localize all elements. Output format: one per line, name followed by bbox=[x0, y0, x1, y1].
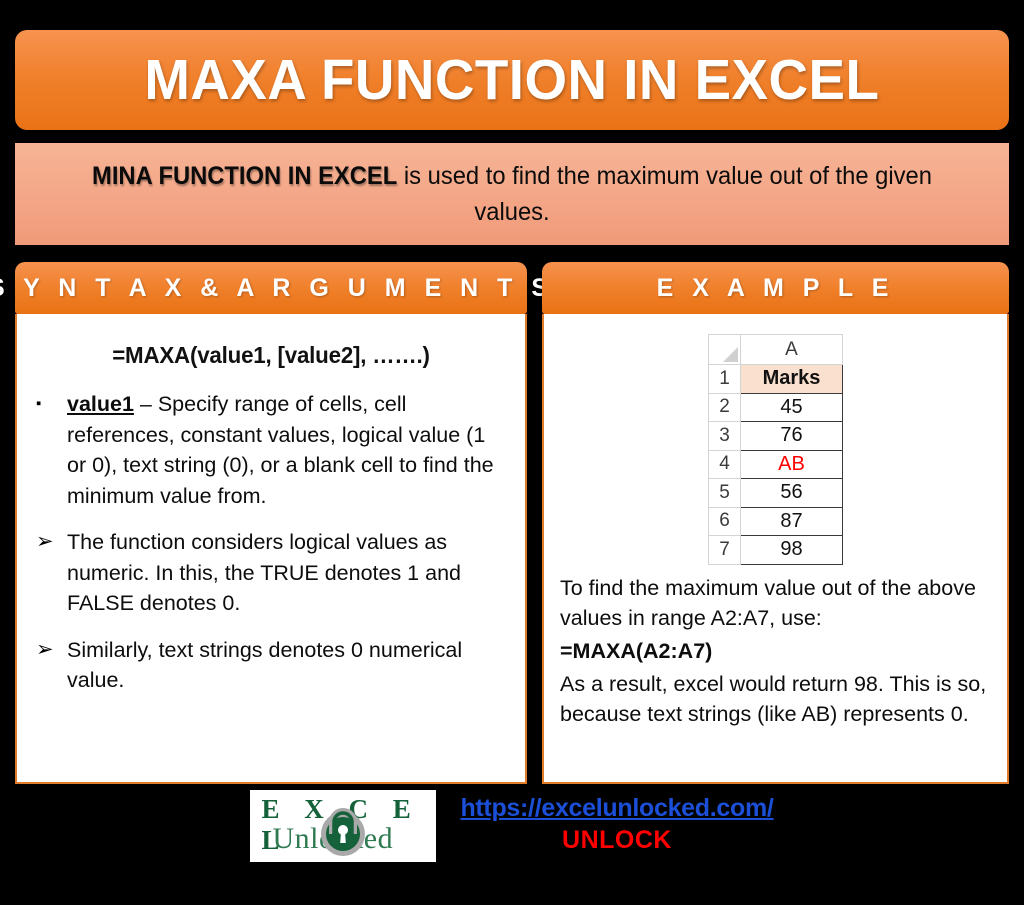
subtitle-band: MINA FUNCTION IN EXCEL is used to find t… bbox=[15, 143, 1009, 245]
spreadsheet-table: A 1 Marks 2 45 3 76 4 bbox=[708, 334, 843, 565]
table-row: 3 76 bbox=[709, 422, 843, 451]
arrow-bullet-icon: ➢ bbox=[33, 527, 67, 557]
row-header[interactable]: 3 bbox=[709, 422, 741, 451]
table-row: 2 45 bbox=[709, 393, 843, 422]
spreadsheet-wrapper: A 1 Marks 2 45 3 76 4 bbox=[560, 334, 991, 565]
site-url-link[interactable]: https://excelunlocked.com/ bbox=[460, 794, 773, 823]
cell-a2[interactable]: 45 bbox=[741, 393, 843, 422]
padlock-icon bbox=[316, 804, 370, 858]
footer: E X C E L Unlocked https://excelunlocked… bbox=[0, 788, 1024, 905]
table-row: 7 98 bbox=[709, 536, 843, 565]
list-item: ➢ The function considers logical values … bbox=[33, 527, 509, 619]
table-row: 6 87 bbox=[709, 507, 843, 536]
subtitle-rest: is used to find the maximum value out of… bbox=[397, 162, 932, 226]
example-panel-title: E X A M P L E bbox=[657, 274, 895, 303]
table-row: 1 Marks bbox=[709, 365, 843, 394]
list-item: ➢ Similarly, text strings denotes 0 nume… bbox=[33, 635, 509, 696]
syntax-panel-header: S Y N T A X & A R G U M E N T S bbox=[15, 262, 527, 314]
subtitle-text: MINA FUNCTION IN EXCEL is used to find t… bbox=[57, 158, 967, 231]
example-panel-body: A 1 Marks 2 45 3 76 4 bbox=[542, 314, 1009, 784]
table-row: 5 56 bbox=[709, 479, 843, 508]
example-panel-header: E X A M P L E bbox=[542, 262, 1009, 314]
example-formula: =MAXA(A2:A7) bbox=[560, 636, 991, 667]
row-header[interactable]: 1 bbox=[709, 365, 741, 394]
cell-a5[interactable]: 56 bbox=[741, 479, 843, 508]
select-all-corner[interactable] bbox=[709, 335, 741, 365]
title-banner: MAXA FUNCTION IN EXCEL bbox=[15, 30, 1009, 130]
table-header-row: A bbox=[709, 335, 843, 365]
row-header[interactable]: 2 bbox=[709, 393, 741, 422]
cell-a1[interactable]: Marks bbox=[741, 365, 843, 394]
syntax-panel: S Y N T A X & A R G U M E N T S =MAXA(va… bbox=[15, 262, 527, 784]
square-bullet-icon: ▪ bbox=[33, 389, 67, 418]
table-row: 4 AB bbox=[709, 450, 843, 479]
syntax-formula: =MAXA(value1, [value2], …….) bbox=[40, 342, 502, 369]
cell-a7[interactable]: 98 bbox=[741, 536, 843, 565]
row-header[interactable]: 7 bbox=[709, 536, 741, 565]
syntax-panel-body: =MAXA(value1, [value2], …….) ▪ value1 – … bbox=[15, 314, 527, 784]
cell-a6[interactable]: 87 bbox=[741, 507, 843, 536]
brand-logo[interactable]: E X C E L Unlocked bbox=[250, 790, 436, 862]
list-item-text: value1 – Specify range of cells, cell re… bbox=[67, 389, 509, 511]
cell-a3[interactable]: 76 bbox=[741, 422, 843, 451]
syntax-panel-title: S Y N T A X & A R G U M E N T S bbox=[0, 274, 554, 303]
row-header[interactable]: 5 bbox=[709, 479, 741, 508]
page-title: MAXA FUNCTION IN EXCEL bbox=[144, 47, 879, 113]
row-header[interactable]: 4 bbox=[709, 450, 741, 479]
keyword-value1: value1 bbox=[67, 392, 134, 416]
example-paragraph-2: As a result, excel would return 98. This… bbox=[560, 669, 991, 730]
list-item-text: The function considers logical values as… bbox=[67, 527, 509, 619]
column-header-a[interactable]: A bbox=[741, 335, 843, 365]
cell-a4[interactable]: AB bbox=[741, 450, 843, 479]
row-header[interactable]: 6 bbox=[709, 507, 741, 536]
select-all-triangle-icon bbox=[723, 347, 738, 362]
infographic-page: MAXA FUNCTION IN EXCEL MINA FUNCTION IN … bbox=[0, 0, 1024, 905]
example-paragraph-1: To find the maximum value out of the abo… bbox=[560, 573, 991, 634]
arrow-bullet-icon: ➢ bbox=[33, 635, 67, 665]
subtitle-strong: MINA FUNCTION IN EXCEL bbox=[92, 162, 397, 190]
footer-links: https://excelunlocked.com/ UNLOCK bbox=[460, 790, 773, 855]
syntax-bullet-list: ▪ value1 – Specify range of cells, cell … bbox=[33, 389, 509, 696]
unlock-label: UNLOCK bbox=[460, 826, 773, 855]
example-panel: E X A M P L E A 1 Marks 2 45 bbox=[542, 262, 1009, 784]
list-item-text: Similarly, text strings denotes 0 numeri… bbox=[67, 635, 509, 696]
list-item: ▪ value1 – Specify range of cells, cell … bbox=[33, 389, 509, 511]
